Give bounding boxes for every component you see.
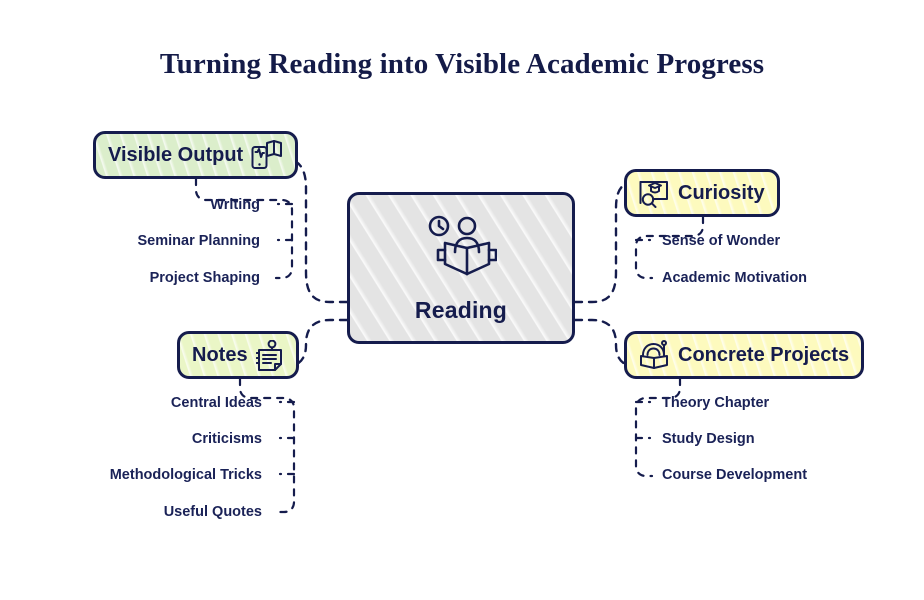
note-document-icon bbox=[256, 340, 284, 371]
branch-node-visible-output[interactable]: Visible Output bbox=[93, 131, 298, 179]
branch-label-concrete-projects: Concrete Projects bbox=[678, 344, 849, 367]
connector-concrete-projects-spine bbox=[636, 379, 680, 476]
leaf-project-shaping: Project Shaping bbox=[62, 271, 260, 286]
page-title: Turning Reading into Visible Academic Pr… bbox=[0, 48, 924, 81]
branch-label-notes: Notes bbox=[192, 344, 248, 367]
leaf-course-development: Course Development bbox=[662, 468, 807, 483]
leaf-study-design: Study Design bbox=[662, 432, 755, 447]
branch-node-concrete-projects[interactable]: Concrete Projects bbox=[624, 331, 864, 379]
leaf-sense-of-wonder: Sense of Wonder bbox=[662, 234, 780, 249]
branch-label-visible-output: Visible Output bbox=[108, 144, 243, 167]
leaf-writing: Writing bbox=[62, 198, 260, 213]
branch-node-curiosity[interactable]: Curiosity bbox=[624, 169, 780, 217]
person-reading-clock-icon bbox=[425, 214, 497, 285]
center-node-label: Reading bbox=[415, 297, 507, 324]
mindmap-canvas: Turning Reading into Visible Academic Pr… bbox=[0, 0, 924, 600]
leaf-criticisms: Criticisms bbox=[40, 432, 262, 447]
leaf-central-ideas: Central Ideas bbox=[40, 396, 262, 411]
leaf-theory-chapter: Theory Chapter bbox=[662, 396, 769, 411]
phone-chart-book-icon bbox=[251, 140, 283, 170]
leaf-seminar-planning: Seminar Planning bbox=[62, 234, 260, 249]
monitor-graduation-search-icon bbox=[639, 179, 669, 208]
branch-node-notes[interactable]: Notes bbox=[177, 331, 299, 379]
open-book-idea-icon bbox=[639, 340, 669, 370]
leaf-methodological-tricks: Methodological Tricks bbox=[40, 468, 262, 483]
leaf-useful-quotes: Useful Quotes bbox=[40, 505, 262, 520]
connector-visible-output-spine bbox=[196, 179, 292, 278]
leaf-academic-motivation: Academic Motivation bbox=[662, 271, 807, 286]
branch-label-curiosity: Curiosity bbox=[678, 182, 765, 205]
connector-center-to-visible-output bbox=[286, 158, 347, 302]
center-node-reading[interactable]: Reading bbox=[347, 192, 575, 344]
